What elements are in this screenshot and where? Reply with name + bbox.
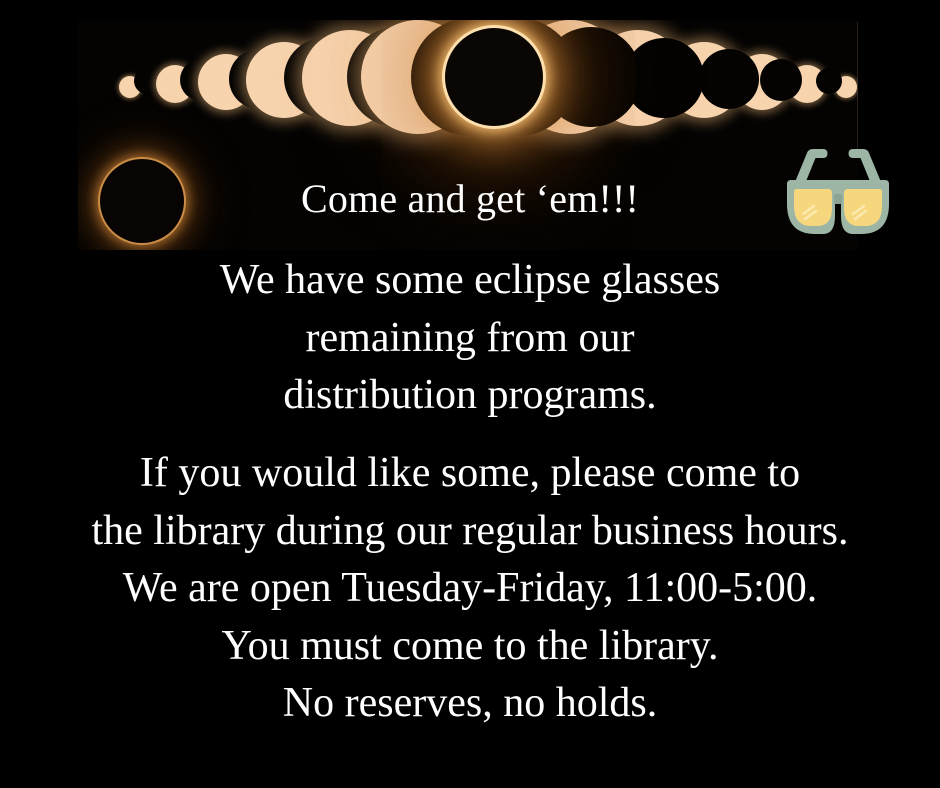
page-headline: Come and get ‘em!!! [0,178,940,220]
eclipse-phase-partial-11-lunar-disc [760,59,802,101]
eclipse-phase-partial-12-lunar-disc [816,68,842,94]
instructions-line-1: If you would like some, please come to [0,445,940,503]
instructions-line-2: the library during our regular business … [0,503,940,561]
eclipse-total-eclipse-corona [445,28,543,126]
paragraph-instructions: If you would like some, please come toth… [0,445,940,733]
availability-line-1: We have some eclipse glasses [0,252,940,310]
instructions-line-4: You must come to the library. [0,618,940,676]
eclipse-glasses-poster: Come and get ‘em!!! We have some eclipse… [0,0,940,788]
paragraph-availability: We have some eclipse glassesremaining fr… [0,252,940,425]
eclipse-phase-partial-9-lunar-disc [624,38,704,118]
availability-line-2: remaining from our [0,310,940,368]
instructions-line-5: No reserves, no holds. [0,675,940,733]
availability-line-3: distribution programs. [0,367,940,425]
eclipse-phase-partial-10-lunar-disc [699,49,759,109]
instructions-line-3: We are open Tuesday-Friday, 11:00-5:00. [0,560,940,618]
photo-edge-seam [857,22,858,150]
